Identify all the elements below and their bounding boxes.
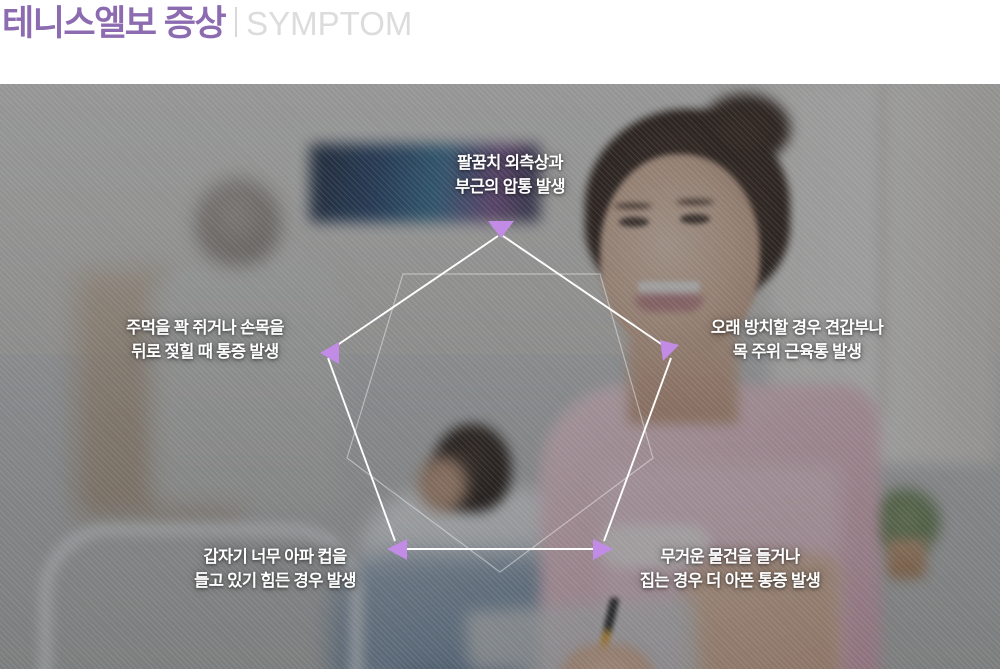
page-header: 테니스엘보 증상 SYMPTOM xyxy=(0,0,1000,84)
callout-left-line1: 주먹을 꽉 쥐거나 손목을 xyxy=(80,317,330,341)
page-title: 테니스엘보 증상 SYMPTOM xyxy=(0,0,412,41)
callout-right: 오래 방치할 경우 견갑부나 목 주위 근육통 발생 xyxy=(672,317,922,365)
callout-bottom-left: 갑자기 너무 아파 컵을 들고 있기 힘든 경우 발생 xyxy=(150,546,400,594)
callout-top: 팔꿈치 외측상과 부근의 압통 발생 xyxy=(385,152,635,200)
arrowhead-top-icon xyxy=(488,221,514,238)
callout-bottom-right-line2: 집는 경우 더 아픈 통증 발생 xyxy=(600,570,860,594)
callout-top-line1: 팔꿈치 외측상과 xyxy=(385,152,635,176)
title-separator xyxy=(235,7,237,37)
hero-diagram-stage: 팔꿈치 외측상과 부근의 압통 발생 주먹을 꽉 쥐거나 손목을 뒤로 젖힐 때… xyxy=(0,84,1000,669)
callout-left: 주먹을 꽉 쥐거나 손목을 뒤로 젖힐 때 통증 발생 xyxy=(80,317,330,365)
pentagon-connector-lines xyxy=(328,236,671,549)
callout-right-line1: 오래 방치할 경우 견갑부나 xyxy=(672,317,922,341)
callout-left-line2: 뒤로 젖힐 때 통증 발생 xyxy=(80,341,330,365)
pentagon-arrowheads xyxy=(320,221,679,560)
page-title-korean: 테니스엘보 증상 xyxy=(2,6,225,41)
guide-hexagon-outline xyxy=(347,274,653,572)
callout-right-line2: 목 주위 근육통 발생 xyxy=(672,341,922,365)
callout-top-line2: 부근의 압통 발생 xyxy=(385,176,635,200)
callout-bottom-left-line1: 갑자기 너무 아파 컵을 xyxy=(150,546,400,570)
callout-bottom-right: 무거운 물건을 들거나 집는 경우 더 아픈 통증 발생 xyxy=(600,546,860,594)
callout-bottom-left-line2: 들고 있기 힘든 경우 발생 xyxy=(150,570,400,594)
page-title-english: SYMPTOM xyxy=(246,7,412,40)
callout-bottom-right-line1: 무거운 물건을 들거나 xyxy=(600,546,860,570)
symptom-page: 테니스엘보 증상 SYMPTOM xyxy=(0,0,1000,669)
